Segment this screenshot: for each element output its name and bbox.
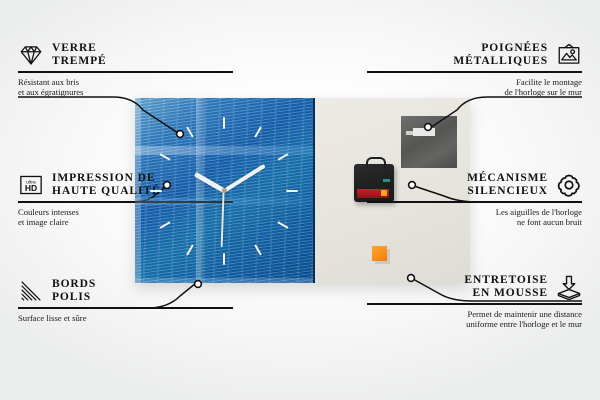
clock-tick: [159, 153, 170, 161]
feature-header: ENTRETOISE EN MOUSSE: [367, 274, 582, 300]
clock-dial: [135, 98, 313, 283]
ultra-hd-icon: ultra HD: [18, 172, 44, 198]
feature-title: ENTRETOISE EN MOUSSE: [464, 274, 548, 300]
ultra-hd-icon-bottom: HD: [25, 183, 37, 193]
infographic-canvas: VERRE TREMPÉ Résistant aux bris et aux é…: [0, 0, 600, 400]
feature-title: VERRE TREMPÉ: [52, 42, 107, 68]
feature-divider: [18, 71, 233, 73]
clock-tick: [223, 117, 225, 129]
picture-frame-hook-icon: [556, 42, 582, 68]
minute-hand: [223, 163, 266, 192]
feature-title: POIGNÉES MÉTALLIQUES: [453, 42, 548, 68]
polished-edge-icon: [18, 278, 44, 304]
feature-title: BORDS POLIS: [52, 278, 96, 304]
feature-description: Facilite le montage de l'horloge sur le …: [367, 77, 582, 98]
clock-tick: [150, 190, 162, 192]
second-hand: [221, 190, 225, 246]
clock-tick: [277, 221, 288, 229]
clock-tick: [223, 253, 225, 265]
feature-divider: [367, 71, 582, 73]
clock-center-pin: [222, 188, 227, 193]
clock-tick: [186, 244, 194, 255]
feature-title: MÉCANISME SILENCIEUX: [467, 172, 548, 198]
feature-description: Surface lisse et sûre: [18, 313, 233, 324]
clock-tick: [286, 190, 298, 192]
clock-tick: [254, 126, 262, 137]
feature-header: POIGNÉES MÉTALLIQUES: [367, 42, 582, 68]
feature-mecanisme-silencieux[interactable]: MÉCANISME SILENCIEUX Les aiguilles de l'…: [367, 172, 582, 228]
feature-description: Résistant aux bris et aux égratignures: [18, 77, 233, 98]
hanger-loop: [366, 157, 386, 168]
feature-divider: [367, 201, 582, 203]
feature-bords-polis[interactable]: BORDS POLIS Surface lisse et sûre: [18, 278, 233, 323]
feature-divider: [18, 307, 233, 309]
hour-hand: [193, 171, 225, 192]
metal-hanger-plate: [401, 116, 457, 168]
foam-spacer: [372, 246, 387, 261]
arrow-down-pad-icon: [556, 274, 582, 300]
feature-entretoise-en-mousse[interactable]: ENTRETOISE EN MOUSSE Permet de maintenir…: [367, 274, 582, 330]
feature-description: Permet de maintenir une distance uniform…: [367, 309, 582, 330]
feature-description: Les aiguilles de l'horloge ne font aucun…: [367, 207, 582, 228]
clock-tick: [277, 153, 288, 161]
diamond-icon: [18, 42, 44, 68]
clock-tick: [159, 221, 170, 229]
clock-tick: [186, 126, 194, 137]
clock-tick: [254, 244, 262, 255]
feature-header: MÉCANISME SILENCIEUX: [367, 172, 582, 198]
feature-divider: [367, 303, 582, 305]
feature-verre-trempe[interactable]: VERRE TREMPÉ Résistant aux bris et aux é…: [18, 42, 233, 98]
gear-icon: [556, 172, 582, 198]
feature-header: VERRE TREMPÉ: [18, 42, 233, 68]
feature-poignees-metalliques[interactable]: POIGNÉES MÉTALLIQUES Facilite le montage…: [367, 42, 582, 98]
